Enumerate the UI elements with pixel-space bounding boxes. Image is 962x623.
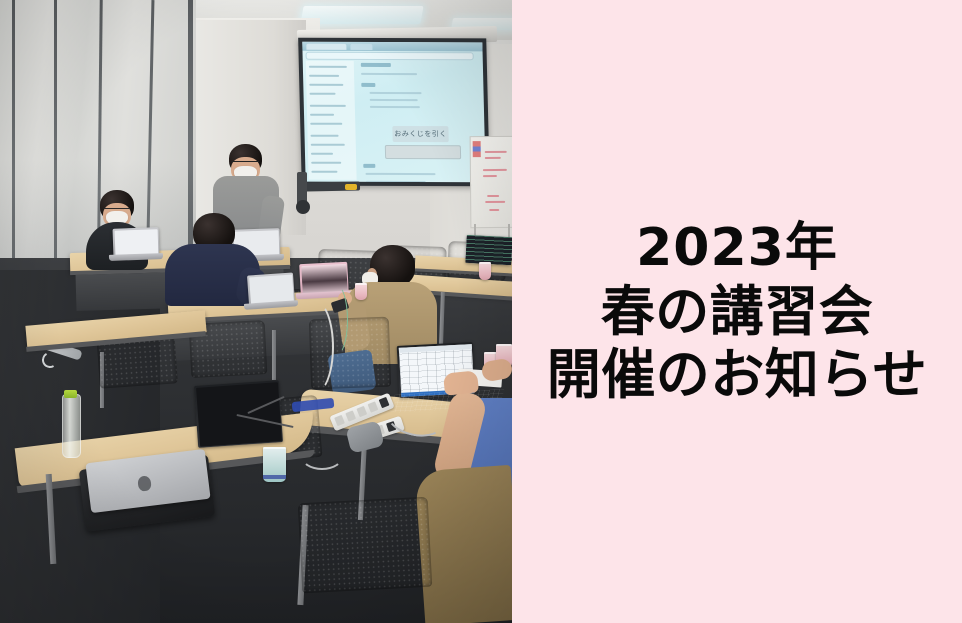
banner-line-notice: 開催のお知らせ <box>547 343 927 406</box>
whiteboard <box>470 136 512 228</box>
paper-cup <box>355 283 367 300</box>
person-hand-typing <box>443 370 479 395</box>
announcement-banner: 2023年 春の講習会 開催のお知らせ <box>512 0 962 623</box>
browser-tab-bar <box>302 42 482 52</box>
banner-line-event: 春の講習会 <box>601 280 874 343</box>
browser-tab <box>350 43 372 49</box>
omikuji-draw-button: おみくじを引く <box>393 126 449 142</box>
browser-address-bar <box>306 52 474 61</box>
paper-cup <box>479 262 491 280</box>
bottle-cap <box>64 390 77 398</box>
projection-screen: おみくじを引く <box>298 38 490 187</box>
page-content: おみくじを引く <box>359 61 482 180</box>
banner-line-year: 2023年 <box>636 217 838 280</box>
image-canvas: おみくじを引く <box>0 0 962 623</box>
cable <box>324 284 348 356</box>
browser-tab <box>306 43 346 49</box>
laptop-screen <box>113 227 160 257</box>
speaker-base <box>296 200 310 214</box>
paper-cup <box>263 447 286 482</box>
whiteboard-magnets <box>473 141 481 157</box>
laptop-screen <box>465 235 512 265</box>
projected-webpage: おみくじを引く <box>302 42 485 183</box>
office-chair <box>298 497 433 594</box>
page-input-field <box>385 145 462 159</box>
screen-pull-handle <box>345 184 357 190</box>
water-bottle <box>62 394 81 458</box>
desk-leg <box>272 330 276 380</box>
page-sidebar <box>306 61 357 180</box>
seminar-room-photo: おみくじを引く <box>0 0 512 623</box>
power-cable <box>300 440 344 470</box>
